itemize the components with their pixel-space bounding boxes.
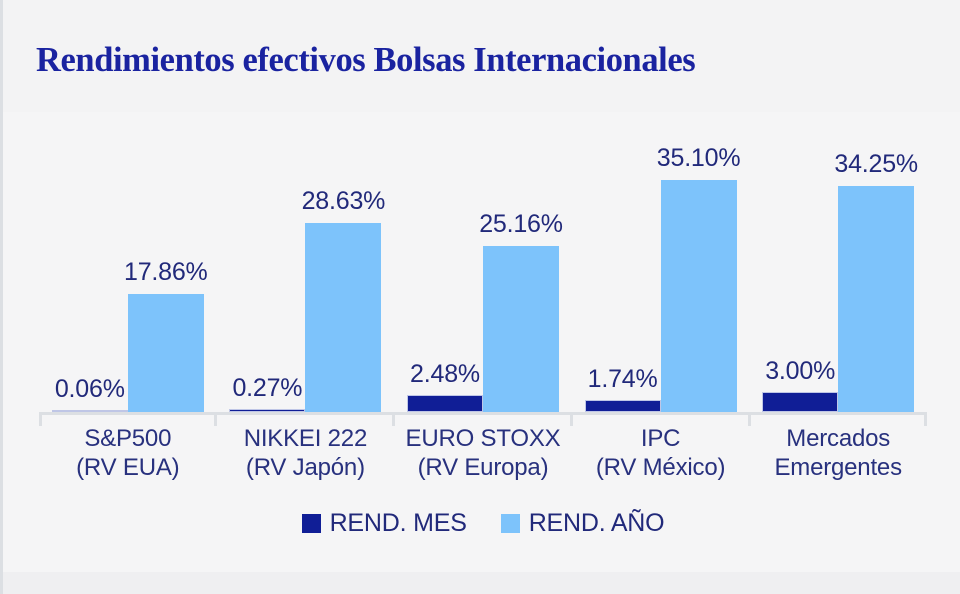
- legend-swatch-anio-icon: [501, 514, 520, 533]
- bar-slot-anio: 28.63%: [305, 223, 381, 412]
- category-label-line1: NIKKEI 222: [217, 424, 395, 453]
- bar-slot-anio: 17.86%: [128, 294, 204, 412]
- bar-slot-mes: 3.00%: [762, 392, 838, 412]
- bar-rend-mes[interactable]: 2.48%: [407, 395, 483, 412]
- footer-band: [3, 572, 960, 594]
- bar-value-label: 1.74%: [588, 365, 658, 394]
- bar-rend-anio[interactable]: 25.16%: [483, 246, 559, 412]
- plot-area: 0.06% 17.86% 0.27% 28.63%: [39, 120, 927, 416]
- legend-item-rend-mes[interactable]: REND. MES: [302, 509, 467, 538]
- bar-slot-anio: 35.10%: [661, 180, 737, 412]
- category-label-line2: (RV Europa): [394, 453, 572, 482]
- x-axis-line: [39, 412, 927, 415]
- legend-swatch-mes-icon: [302, 514, 321, 533]
- bar-rend-mes[interactable]: 1.74%: [585, 400, 661, 412]
- bar-group-ipc: 1.74% 35.10%: [572, 120, 750, 412]
- bar-value-label: 17.86%: [124, 258, 208, 287]
- bar-slot-anio: 34.25%: [838, 186, 914, 412]
- legend-item-rend-anio[interactable]: REND. AÑO: [501, 509, 665, 538]
- category-label-line1: EURO STOXX: [394, 424, 572, 453]
- bar-value-label: 35.10%: [657, 144, 741, 173]
- category-label-line2: (RV Japón): [217, 453, 395, 482]
- bar-rend-anio[interactable]: 17.86%: [128, 294, 204, 412]
- bar-value-label: 2.48%: [410, 360, 480, 389]
- category-label-line2: (RV México): [572, 453, 750, 482]
- category-label-eurostoxx: EURO STOXX (RV Europa): [394, 424, 572, 482]
- category-label-line2: (RV EUA): [39, 453, 217, 482]
- bar-value-label: 34.25%: [834, 150, 918, 179]
- page-title: Rendimientos efectivos Bolsas Internacio…: [36, 40, 695, 80]
- category-label-mercados-emergentes: Mercados Emergentes: [749, 424, 927, 482]
- bar-value-label: 28.63%: [302, 187, 386, 216]
- x-axis-category-labels: S&P500 (RV EUA) NIKKEI 222 (RV Japón) EU…: [39, 424, 927, 482]
- category-label-line1: S&P500: [39, 424, 217, 453]
- category-label-ipc: IPC (RV México): [572, 424, 750, 482]
- bar-group-mercados-emergentes: 3.00% 34.25%: [749, 120, 927, 412]
- bar-rend-mes[interactable]: 3.00%: [762, 392, 838, 412]
- bar-slot-mes: 1.74%: [585, 400, 661, 412]
- bar-groups: 0.06% 17.86% 0.27% 28.63%: [39, 120, 927, 412]
- bar-group-nikkei: 0.27% 28.63%: [217, 120, 395, 412]
- bar-group-sp500: 0.06% 17.86%: [39, 120, 217, 412]
- bar-slot-mes: 2.48%: [407, 395, 483, 412]
- legend-label-rend-mes: REND. MES: [330, 509, 467, 538]
- legend-label-rend-anio: REND. AÑO: [529, 509, 665, 538]
- bar-value-label: 25.16%: [479, 210, 563, 239]
- bar-rend-anio[interactable]: 34.25%: [838, 186, 914, 412]
- bar-value-label: 3.00%: [765, 357, 835, 386]
- bar-group-eurostoxx: 2.48% 25.16%: [394, 120, 572, 412]
- chart-page: Rendimientos efectivos Bolsas Internacio…: [0, 0, 960, 594]
- chart-legend: REND. MES REND. AÑO: [3, 509, 960, 538]
- bar-slot-anio: 25.16%: [483, 246, 559, 412]
- category-label-nikkei: NIKKEI 222 (RV Japón): [217, 424, 395, 482]
- bar-value-label: 0.27%: [232, 374, 302, 403]
- category-label-sp500: S&P500 (RV EUA): [39, 424, 217, 482]
- category-label-line1: Mercados: [749, 424, 927, 453]
- bar-rend-anio[interactable]: 28.63%: [305, 223, 381, 412]
- bar-rend-anio[interactable]: 35.10%: [661, 180, 737, 412]
- category-label-line1: IPC: [572, 424, 750, 453]
- category-label-line2: Emergentes: [749, 453, 927, 482]
- bar-value-label: 0.06%: [55, 375, 125, 404]
